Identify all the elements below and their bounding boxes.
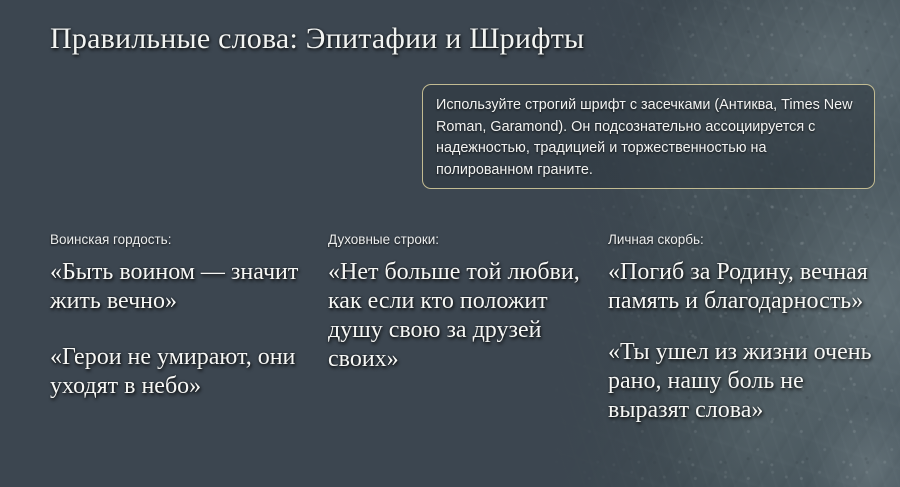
column-label-personal-grief: Личная скорбь:	[608, 232, 876, 247]
column-personal-grief: Личная скорбь: «Погиб за Родину, вечная …	[608, 232, 876, 425]
epitaph-quote: «Быть воином — значит жить вечно»	[50, 258, 312, 316]
epitaph-quote: «Ты ушел из жизни очень рано, нашу боль …	[608, 338, 876, 425]
slide-title: Правильные слова: Эпитафии и Шрифты	[50, 22, 584, 56]
font-advice-text: Используйте строгий шрифт с засечками (А…	[436, 95, 860, 181]
epitaph-quote: «Погиб за Родину, вечная память и благод…	[608, 258, 876, 316]
column-military-pride: Воинская гордость: «Быть воином — значит…	[50, 232, 312, 401]
epitaph-quote: «Нет больше той любви, как если кто поло…	[328, 258, 590, 374]
slide-root: Правильные слова: Эпитафии и Шрифты Испо…	[0, 0, 900, 487]
epitaph-quote: «Герои не умирают, они уходят в небо»	[50, 343, 312, 401]
column-spiritual-lines: Духовные строки: «Нет больше той любви, …	[328, 232, 590, 374]
column-label-spiritual-lines: Духовные строки:	[328, 232, 590, 247]
column-label-military-pride: Воинская гордость:	[50, 232, 312, 247]
font-advice-callout-box: Используйте строгий шрифт с засечками (А…	[422, 84, 875, 189]
